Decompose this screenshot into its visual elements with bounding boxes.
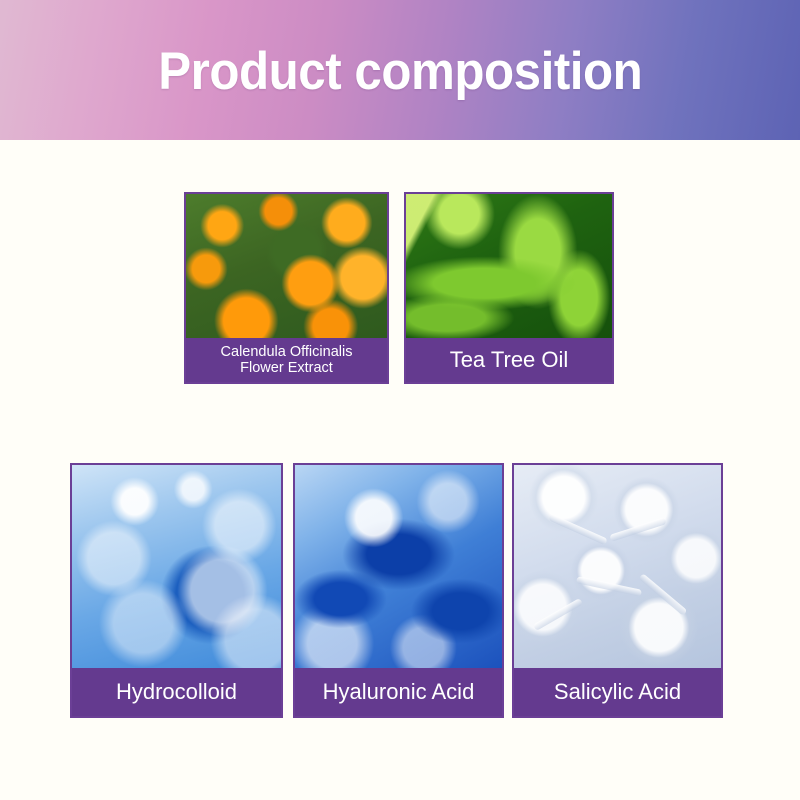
ingredient-card-calendula[interactable]: Calendula Officinalis Flower Extract: [184, 192, 389, 384]
ingredient-card-salicylic[interactable]: Salicylic Acid: [512, 463, 723, 718]
page-title: Product composition: [158, 45, 642, 98]
ingredient-label-calendula-line1: Calendula Officinalis: [221, 344, 353, 360]
ingredient-card-grid: Calendula Officinalis Flower Extract Tea…: [0, 140, 800, 800]
calendula-marigold-flowers-photo: [186, 194, 387, 338]
ingredient-label-hyaluronic: Hyaluronic Acid: [295, 668, 502, 716]
ingredient-card-hydrocolloid[interactable]: Hydrocolloid: [70, 463, 283, 718]
ingredient-card-teatree[interactable]: Tea Tree Oil: [404, 192, 614, 384]
molecule-bond-icon: [610, 517, 667, 542]
header-banner: Product composition: [0, 0, 800, 140]
molecule-bond-icon: [639, 573, 688, 616]
tea-tree-green-leaves-photo: [406, 194, 612, 338]
molecule-bond-icon: [532, 598, 582, 631]
blue-gel-swirl-photo: [295, 465, 502, 668]
molecule-bond-icon: [576, 576, 642, 597]
ingredient-label-calendula: Calendula Officinalis Flower Extract: [186, 338, 387, 382]
ingredient-card-hyaluronic[interactable]: Hyaluronic Acid: [293, 463, 504, 718]
ingredient-label-calendula-line2: Flower Extract: [221, 360, 353, 376]
ingredient-label-salicylic: Salicylic Acid: [514, 668, 721, 716]
molecule-bond-icon: [548, 514, 608, 546]
ingredient-label-hydrocolloid: Hydrocolloid: [72, 668, 281, 716]
ingredient-label-teatree: Tea Tree Oil: [406, 338, 612, 382]
glass-molecule-model-photo: [514, 465, 721, 668]
blue-water-bubbles-photo: [72, 465, 281, 668]
